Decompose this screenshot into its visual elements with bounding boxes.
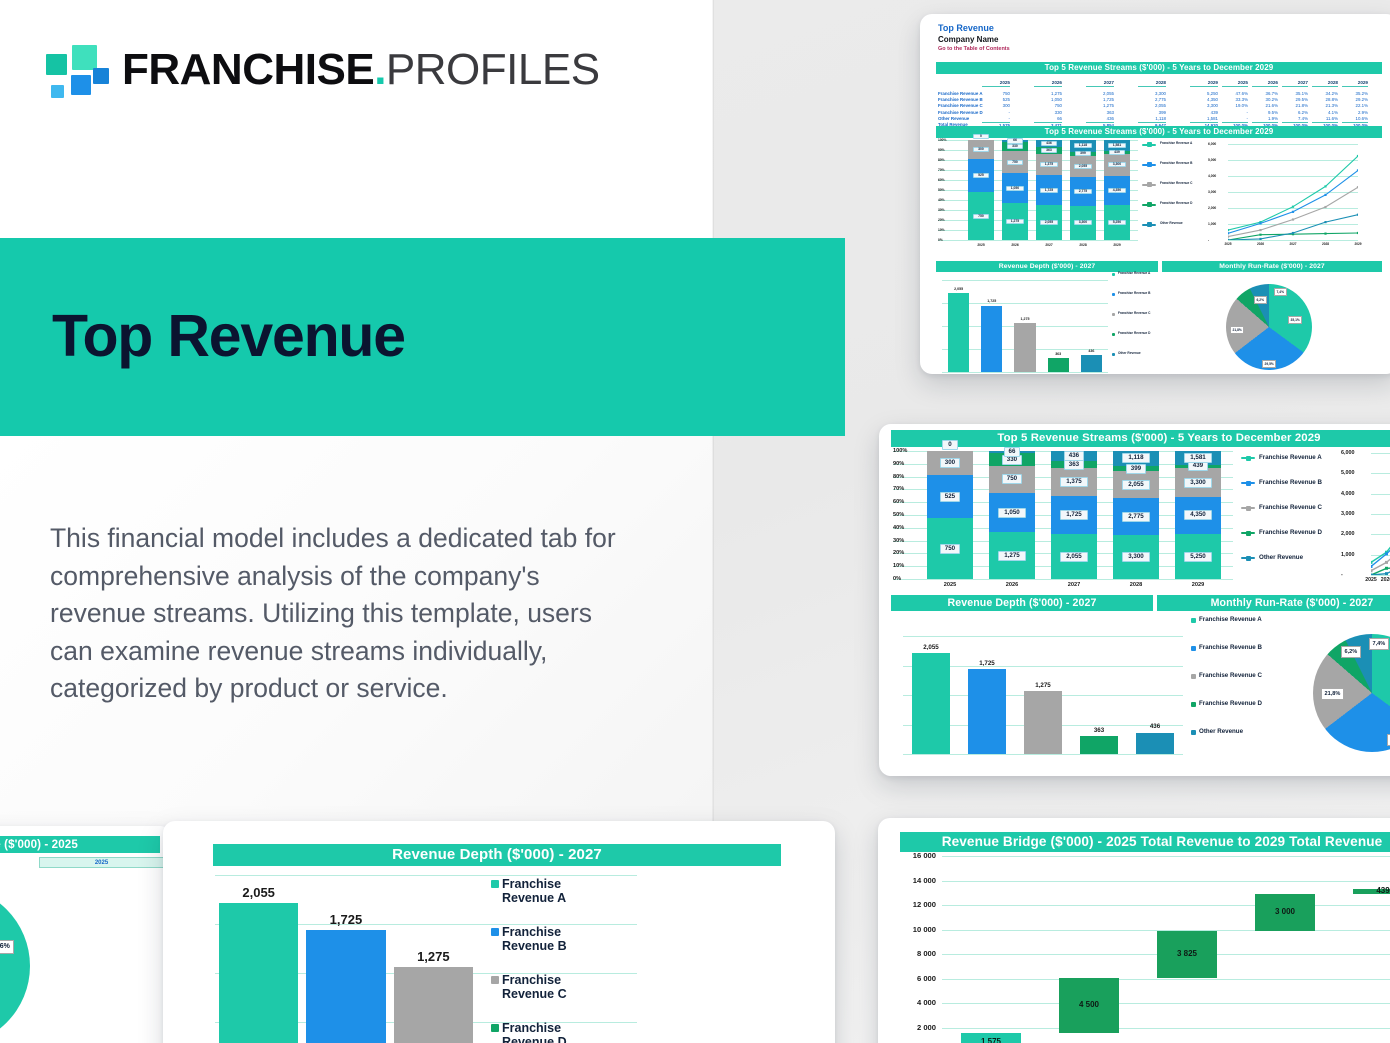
y-axis-tick: 20% [893,550,904,556]
bar-value-label: 750 [1002,474,1022,484]
depth-bar-label: 2,055 [912,644,950,651]
legend-label: Franchise Revenue D [1118,332,1166,336]
x-axis-tick: 2027 [1051,582,1097,588]
table-year-header: 2026 [1034,80,1062,87]
legend-marker [1246,531,1251,536]
gridline [903,754,1183,755]
depth-bar-label: 1,275 [394,949,473,964]
table-cell-pct: 33.3% [1222,97,1248,102]
table-cell: 330 [1034,110,1062,115]
pie-percent-label: 21,8% [1321,688,1344,700]
band-monthly-runrate-2025: Monthly Run-Rate ($'000) - 2025 [0,836,160,853]
table-cell: 3,300 [1138,91,1166,96]
table-cell-pct: 10.6% [1342,116,1368,121]
depth-bar-label: 1,725 [306,912,385,927]
gridline [942,881,1390,882]
line-plot: 20252026202720282029 [1228,144,1358,240]
depth-bar[interactable] [1014,323,1035,372]
gridline [903,636,1183,637]
x-axis-tick: 2028 [1113,582,1159,588]
table-year-header: 2027 [1086,80,1114,87]
legend-marker [1246,481,1251,486]
stacked-bar-chart[interactable]: 100%90%80%70%60%50%40%30%20%10%0%7505253… [893,451,1233,591]
legend-label: Other Revenue [1160,222,1202,226]
y-axis-tick: 6,000 [1341,450,1355,456]
depth-bar[interactable] [912,653,950,754]
table-year-header-pct: 2029 [1342,80,1368,87]
y-axis-tick: 3,000 [1208,190,1216,194]
x-axis-tick: 2029 [1104,243,1130,247]
y-axis-tick: 1,000 [1208,222,1216,226]
table-year-header: 2029 [1190,80,1218,87]
band-top5-chart: Top 5 Revenue Streams ($'000) - 5 Years … [936,126,1382,138]
table-cell-pct: 4.1% [1312,110,1338,115]
depth-bar-label: 1,275 [1014,317,1035,321]
y-axis-tick: 10% [893,563,904,569]
legend-marker [1147,162,1152,167]
legend-label: Franchise Revenue D [1160,202,1202,206]
runrate-pie-chart[interactable]: 35,1%29,5%21,8%6,2%7,4% [1295,616,1390,766]
y-axis-tick: 10% [938,228,945,232]
table-cell-pct: 22.1% [1342,103,1368,108]
pie-percent-label: 7,4% [1274,288,1287,296]
legend-marker [1246,456,1251,461]
table-cell: 399 [1138,110,1166,115]
line-series [1228,144,1358,240]
table-of-contents-link[interactable]: Go to the Table of Contents [938,46,1010,52]
legend-swatch [491,1024,499,1032]
bar-value-label: 399 [1075,151,1091,156]
table-cell: 66 [1034,116,1062,121]
bridge-bar-label: 439 [1353,886,1390,895]
band-top5-chart-large: Top 5 Revenue Streams ($'000) - 5 Years … [891,430,1390,447]
page-title: Top Revenue [52,305,405,367]
mini-line-chart[interactable]: 6,0005,0004,0003,0002,0001,000-202520262… [1208,140,1382,256]
legend-label: Franchise Revenue D [1259,529,1331,536]
legend-label: Franchise Revenue B [1259,479,1331,486]
depth-bar-label: 1,275 [1024,682,1062,689]
table-cell: 1,275 [1086,103,1114,108]
y-axis-tick: 6,000 [1208,142,1216,146]
screenshot-card-revenue-depth[interactable]: Revenue Depth ($'000) - 2027 2,0551,7251… [163,821,835,1043]
depth-bar[interactable] [1024,691,1062,754]
table-year-header: 2025 [982,80,1010,87]
table-year-header-pct: 2025 [1222,80,1248,87]
legend-label: Franchise Revenue C [502,973,594,1002]
bar-value-label: 363 [1064,460,1084,470]
bar-value-label: 363 [1041,148,1057,153]
legend-marker [1147,182,1152,187]
table-year-header: 2028 [1138,80,1166,87]
x-axis-tick: 2027 [1285,242,1301,246]
depth-bar[interactable] [394,967,473,1043]
bar-value-label: 300 [940,458,960,468]
depth-bar-label: 436 [1136,723,1174,730]
gridline [942,979,1390,980]
y-axis-tick: 3,000 [1341,511,1355,517]
legend-label: Franchise Revenue B [1199,644,1279,651]
mini-chart-legend: Franchise Revenue AFranchise Revenue BFr… [1142,142,1202,254]
stacked-bar[interactable] [927,451,973,579]
bar-value-label: 525 [973,173,989,178]
bar-value-label: 2,055 [1060,552,1087,562]
pie-percent-label: 6,2% [1254,296,1267,304]
legend-marker [1147,142,1152,147]
table-cell: 300 [982,103,1010,108]
mini-depth-legend: Franchise Revenue AFranchise Revenue BFr… [1112,272,1168,374]
legend-swatch [1112,273,1115,276]
bar-value-label: 436 [1041,141,1057,146]
legend-label: Franchise Revenue C [1160,182,1202,186]
table-cell: 3,300 [1190,103,1218,108]
bar-value-label: 1,275 [1006,219,1025,224]
table-cell-pct: - [1222,116,1248,121]
table-cell-pct: 29.2% [1342,97,1368,102]
bar-value-label: 3,300 [1074,220,1093,225]
table-cell-pct: 34.2% [1312,91,1338,96]
y-axis-tick: 12 000 [892,900,936,909]
revenue-depth-bars[interactable]: 2,0551,7251,275 [215,875,477,1043]
bar-value-label: 66 [1007,138,1023,143]
y-axis-tick: 5,000 [1341,470,1355,476]
y-axis-tick: 16 000 [892,851,936,860]
depth-plot: 2,0551,7251,275363436 [942,280,1108,372]
logo-wordmark: FRANCHISE.PROFILES [122,42,600,98]
y-axis-tick: 60% [893,499,904,505]
depth-bar[interactable] [219,903,298,1043]
x-axis-tick: 2027 [1036,243,1062,247]
bar-value-label: 1,375 [1040,162,1059,167]
bar-value-label: 750 [973,214,989,219]
table-cell: 2,775 [1138,97,1166,102]
screenshot-card-revenue-bridge[interactable]: Revenue Bridge ($'000) - 2025 Total Reve… [878,818,1390,1043]
bar-value-label: 2,055 [1122,480,1149,490]
pie-chart-2025-slices[interactable] [0,886,30,1043]
y-axis-tick: 6 000 [892,974,936,983]
x-axis-tick: 2025 [927,582,973,588]
x-axis-tick: 2029 [1175,582,1221,588]
y-axis-tick: - [1341,572,1343,578]
y-axis-tick: 50% [938,188,945,192]
bar-value-label: 2,055 [1040,220,1059,225]
legend-label: Other Revenue [1259,554,1331,561]
legend-marker [1246,506,1251,511]
table-row-label: Franchise Revenue C [938,103,983,108]
y-axis-tick: 60% [938,178,945,182]
legend-swatch [491,928,499,936]
y-axis-tick: 30% [938,208,945,212]
table-cell: 1,050 [1034,97,1062,102]
revenue-depth-chart[interactable]: 2,0551,7251,275363436 [895,616,1185,766]
legend-marker [1147,222,1152,227]
bridge-bar-label: 1 575 [961,1037,1022,1043]
x-axis-tick: 2026 [1002,243,1028,247]
y-axis-tick: 70% [938,168,945,172]
depth-bar-label: 436 [1081,349,1102,353]
table-cell: 1,275 [1034,91,1062,96]
table-year-header-pct: 2027 [1282,80,1308,87]
table-cell: 1,118 [1138,116,1166,121]
gridline [942,280,1108,281]
table-cell: 439 [1190,110,1218,115]
pie-percent-label: 47,6% [0,940,14,954]
y-axis-tick: 8 000 [892,949,936,958]
bar-value-label: 2,775 [1122,512,1149,522]
bar-value-label: 300 [973,147,989,152]
gridline [1371,575,1390,576]
legend-label: Franchise Revenue B [1160,162,1202,166]
bridge-bar-label: 3 000 [1255,907,1316,916]
legend-label: Franchise Revenue A [1118,272,1166,276]
revenue-bridge-waterfall[interactable]: -2 0004 0006 0008 00010 00012 00014 0001… [892,856,1390,1043]
table-row-label: Franchise Revenue A [938,91,983,96]
depth-bar[interactable] [1048,358,1069,372]
legend-label: Franchise Revenue C [1199,672,1279,679]
bar-value-label: 1,581 [1184,453,1211,463]
y-axis-tick: 10 000 [892,925,936,934]
hero-description: This financial model includes a dedicate… [50,520,620,708]
brand-logo: FRANCHISE.PROFILES [46,44,546,106]
pie-percent-label: 21,8% [1230,326,1244,334]
y-axis-tick: 80% [893,474,904,480]
depth-bar[interactable] [1080,736,1118,754]
legend-label: Franchise Revenue A [1259,454,1331,461]
mini-revenue-depth-chart[interactable]: 2,0551,7251,275363436 [938,276,1110,374]
table-cell: 436 [1086,116,1114,121]
table-cell-pct: 6.2% [1282,110,1308,115]
table-cell-pct: 21.3% [1312,103,1338,108]
table-cell-pct: 29.5% [1282,97,1308,102]
y-axis-tick: 50% [893,512,904,518]
legend-label: Other Revenue [1118,352,1166,356]
legend-swatch [1112,353,1115,356]
table-cell-pct: 2.9% [1342,110,1368,115]
legend-swatch [1112,333,1115,336]
table-cell: 750 [982,91,1010,96]
bar-value-label: 439 [1109,150,1125,155]
pie-percent-label: 35,1% [1288,316,1302,324]
x-axis-tick: 2028 [1318,242,1334,246]
table-cell: 2,055 [1138,103,1166,108]
legend-marker [1246,556,1251,561]
table-cell-pct: 11.6% [1312,116,1338,121]
revenue-depth-legend: Franchise Revenue AFranchise Revenue BFr… [1191,616,1291,766]
y-axis-tick: 100% [893,448,907,454]
bar-value-label: 399 [1126,464,1146,474]
legend-swatch [1112,293,1115,296]
legend-label: Franchise Revenue A [1160,142,1202,146]
pie-percent-label: 7,4% [1369,638,1389,650]
bar-value-label: 1,118 [1122,453,1149,463]
y-axis-tick: 100% [938,138,946,142]
legend-swatch [1191,646,1196,651]
pie-percent-label: 6,2% [1341,646,1361,658]
y-axis-tick: 70% [893,486,904,492]
table-cell-pct: 47.6% [1222,91,1248,96]
depth-plot: 2,0551,7251,275363436 [903,636,1183,754]
logo-word-light: PROFILES [386,45,600,94]
depth-bar[interactable] [968,669,1006,754]
depth-bar[interactable] [981,306,1002,372]
gridline [893,579,1233,580]
bar-value-label: 1,050 [998,508,1025,518]
x-axis-tick: 2025 [968,243,994,247]
y-axis-tick: 90% [938,148,945,152]
table-cell-pct: 28.8% [1312,97,1338,102]
table-row-label: Franchise Revenue D [938,110,983,115]
table-cell-pct: 9.5% [1252,110,1278,115]
gridline [942,856,1390,857]
legend-marker [1147,202,1152,207]
depth-bar[interactable] [1081,355,1102,372]
x-axis-tick: 2025 [1220,242,1236,246]
bar-value-label: 330 [1007,144,1023,149]
y-axis-tick: 4,000 [1208,174,1216,178]
bar-value-label: 3,300 [1108,162,1127,167]
legend-label: Other Revenue [1199,728,1279,735]
table-year-header-pct: 2026 [1252,80,1278,87]
bar-value-label: 66 [1004,447,1020,457]
screenshot-card-charts[interactable]: Top 5 Revenue Streams ($'000) - 5 Years … [879,424,1390,776]
table-cell: 525 [982,97,1010,102]
band-top5-table: Top 5 Revenue Streams ($'000) - 5 Years … [936,62,1382,74]
bridge-bar-label: 4 500 [1059,1000,1120,1009]
legend-label: Franchise Revenue B [502,925,594,954]
table-cell-pct: 7.4% [1282,116,1308,121]
legend-label: Franchise Revenue A [502,877,594,906]
band-revenue-depth-2027: Revenue Depth ($'000) - 2027 [213,844,781,866]
stacked-bar[interactable] [968,140,994,240]
bar-value-label: 3,300 [1122,552,1149,562]
logo-mark-icon [46,44,108,98]
bar-value-label: 5,250 [1108,220,1127,225]
bar-value-label: 525 [940,492,960,502]
bar-value-label: 0 [973,134,989,139]
table-cell: 1,725 [1086,97,1114,102]
y-axis-tick: - [1208,238,1209,242]
legend-swatch [1191,618,1196,623]
bar-value-label: 2,055 [1074,164,1093,169]
y-axis-tick: 1,000 [1341,552,1355,558]
pie-chart-2025[interactable]: 47,6%33,3%19,0%0,0%0,0% [0,872,144,1043]
y-axis-tick: 40% [938,198,945,202]
depth-bar-label: 2,055 [948,287,969,291]
gridline [942,1028,1390,1029]
background-panel-top [0,0,713,238]
y-axis-tick: 2,000 [1341,531,1355,537]
legend-label: Franchise Revenue C [1259,504,1331,511]
x-axis-tick: 2028 [1070,243,1096,247]
table-cell: 2,055 [1086,91,1114,96]
line-series [1371,453,1390,575]
legend-swatch [491,976,499,984]
gridline [942,1003,1390,1004]
runrate-line-chart[interactable]: 6,0005,0004,0003,0002,0001,000-202520262… [1341,451,1390,591]
table-cell-pct: 21.6% [1252,103,1278,108]
legend-label: Franchise Revenue C [1118,312,1166,316]
depth-bar-label: 1,725 [968,660,1006,667]
revenue-depth-legend-large: Franchise Revenue AFranchise Revenue BFr… [491,877,651,1043]
y-axis-tick: 30% [893,538,904,544]
x-axis-tick: 2029 [1350,242,1366,246]
legend-swatch [1191,702,1196,707]
depth-bar-label: 1,725 [981,299,1002,303]
legend-label: Franchise Revenue B [1118,292,1166,296]
band-revenue-bridge: Revenue Bridge ($'000) - 2025 Total Reve… [900,832,1390,852]
bar-value-label: 1,050 [1006,186,1025,191]
y-axis-tick: 0% [893,576,901,582]
bar-value-label: 3,300 [1184,478,1211,488]
mini-stacked-bar-chart[interactable]: 100%90%80%70%60%50%40%30%20%10%0%7505253… [938,140,1138,256]
table-cell-pct: 1.9% [1252,116,1278,121]
bar-value-label: 1,581 [1108,143,1127,148]
x-axis-tick: 2026 [989,582,1035,588]
table-cell-pct: 35.1% [1282,91,1308,96]
legend-swatch [1191,674,1196,679]
depth-bar[interactable] [1136,733,1174,754]
bar-value-label: 750 [1007,160,1023,165]
screenshot-card-spreadsheet[interactable]: Top Revenue Company Name Go to the Table… [920,14,1390,374]
sheet-company-name: Company Name [938,35,998,44]
table-cell: 5,250 [1190,91,1218,96]
bar-value-label: 439 [1188,461,1208,471]
gridline [942,905,1390,906]
y-axis-tick: 90% [893,461,904,467]
table-cell: - [982,116,1010,121]
y-axis-tick: 2,000 [1208,206,1216,210]
logo-word-dot: . [374,45,386,94]
bar-value-label: 1,275 [998,551,1025,561]
logo-word-bold: FRANCHISE [122,45,374,94]
sheet-title: Top Revenue [938,23,994,33]
bar-value-label: 1,375 [1060,477,1087,487]
line-plot: 202520262027 [1371,453,1390,575]
table-cell: 4,350 [1190,97,1218,102]
legend-label: Franchise Revenue A [1199,616,1279,623]
y-axis-tick: 2 000 [892,1023,936,1032]
screenshot-card-pie-2025[interactable]: Monthly Run-Rate ($'000) - 2025 2025 47,… [0,826,172,1043]
y-axis-tick: 5,000 [1208,158,1216,162]
table-row-label: Other Revenue [938,116,969,121]
depth-bar[interactable] [948,293,969,372]
table-cell-pct: - [1222,110,1248,115]
table-row-label: Franchise Revenue B [938,97,983,102]
y-axis-tick: 4,000 [1341,491,1355,497]
table-cell-pct: 21.8% [1282,103,1308,108]
y-axis-tick: 4 000 [892,998,936,1007]
y-axis-tick: 0% [938,238,943,242]
table-cell-pct: 35.2% [1342,91,1368,96]
band-revenue-depth-large: Revenue Depth ($'000) - 2027 [891,595,1153,611]
y-axis-tick: 20% [938,218,945,222]
pie-year-tag: 2025 [39,857,164,868]
bar-value-label: 436 [1064,451,1084,461]
legend-swatch [1112,313,1115,316]
bar-value-label: 2,775 [1074,189,1093,194]
band-monthly-runrate-large: Monthly Run-Rate ($'000) - 2027 [1157,595,1390,611]
bar-value-label: 1,118 [1074,143,1093,148]
mini-pie-chart[interactable]: 35,1%29,5%21,8%6,2%7,4% [1170,272,1382,374]
legend-swatch [1191,730,1196,735]
gridline [938,240,1138,241]
table-cell: - [982,110,1010,115]
y-axis-tick: 14 000 [892,876,936,885]
depth-bar-label: 363 [1048,352,1069,356]
table-cell: 363 [1086,110,1114,115]
depth-bar[interactable] [306,930,385,1043]
pie-percent-label: 29,5% [1262,360,1276,368]
depth-bar-label: 363 [1080,727,1118,734]
